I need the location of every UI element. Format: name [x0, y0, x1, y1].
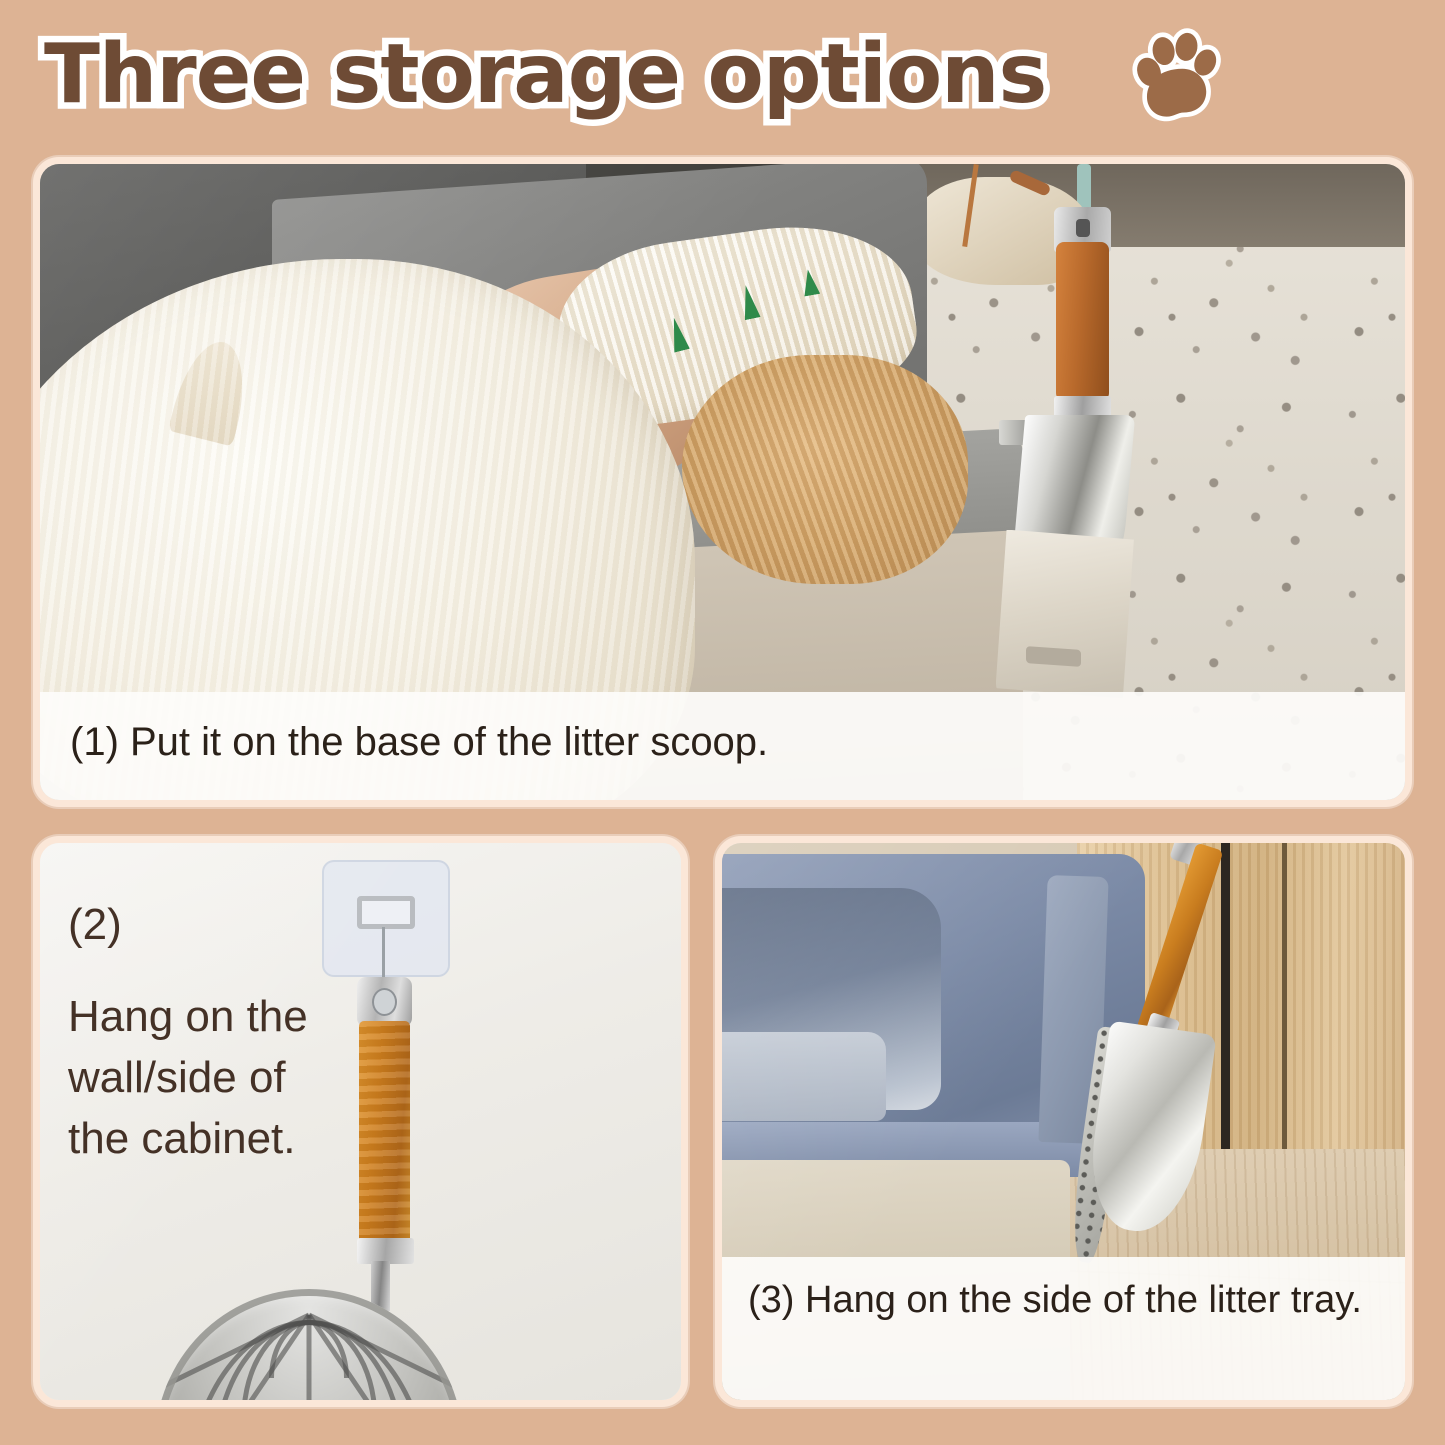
panel-1-photo: (1) Put it on the base of the litter sco…	[40, 164, 1405, 800]
header: Three storage options	[0, 0, 1445, 150]
scoop-wooden-handle	[359, 1021, 410, 1244]
panel-2-step-number: (2)	[68, 901, 338, 949]
panel-2-caption-line-3: the cabinet.	[68, 1109, 338, 1170]
hook-wire	[382, 927, 385, 977]
panel-2-caption: Hang on the wall/side of the cabinet.	[68, 987, 338, 1169]
scoop-wooden-handle	[1056, 242, 1109, 401]
storage-option-2-panel: (2) Hang on the wall/side of the cabinet…	[33, 836, 688, 1407]
sweater-tree-motif	[800, 268, 820, 296]
scoop-head-rim	[155, 1289, 463, 1400]
paw-print-icon	[1122, 23, 1226, 127]
scoop-base-slot	[1026, 646, 1081, 667]
ginger-cat	[682, 355, 969, 584]
panel-3-caption: (3) Hang on the side of the litter tray.	[722, 1257, 1405, 1400]
panel-2-caption-block: (2) Hang on the wall/side of the cabinet…	[68, 901, 338, 1170]
sweater-tree-motif	[737, 284, 760, 321]
scoop-plastic-base	[996, 530, 1134, 699]
scoop-wooden-handle	[1136, 843, 1223, 1036]
storage-option-1-panel: (1) Put it on the base of the litter sco…	[33, 157, 1412, 807]
page-title: Three storage options	[44, 34, 1046, 116]
white-cat-ear	[168, 335, 256, 448]
sweater-tree-motif	[666, 316, 690, 353]
hook-clip	[357, 896, 415, 929]
storage-option-3-panel: (3) Hang on the side of the litter tray.	[715, 836, 1412, 1407]
panel-2-caption-line-1: Hang on the	[68, 987, 338, 1048]
panel-3-photo: (3) Hang on the side of the litter tray.	[722, 843, 1405, 1400]
scoop-hanging-eyelet	[357, 977, 411, 1027]
panel-2-caption-line-2: wall/side of	[68, 1048, 338, 1109]
panel-1-caption: (1) Put it on the base of the litter sco…	[40, 692, 1405, 800]
panel-2-photo: (2) Hang on the wall/side of the cabinet…	[40, 843, 681, 1400]
litter-tray-interior-floor	[722, 1032, 886, 1121]
litter-scoop-in-base	[996, 202, 1173, 698]
